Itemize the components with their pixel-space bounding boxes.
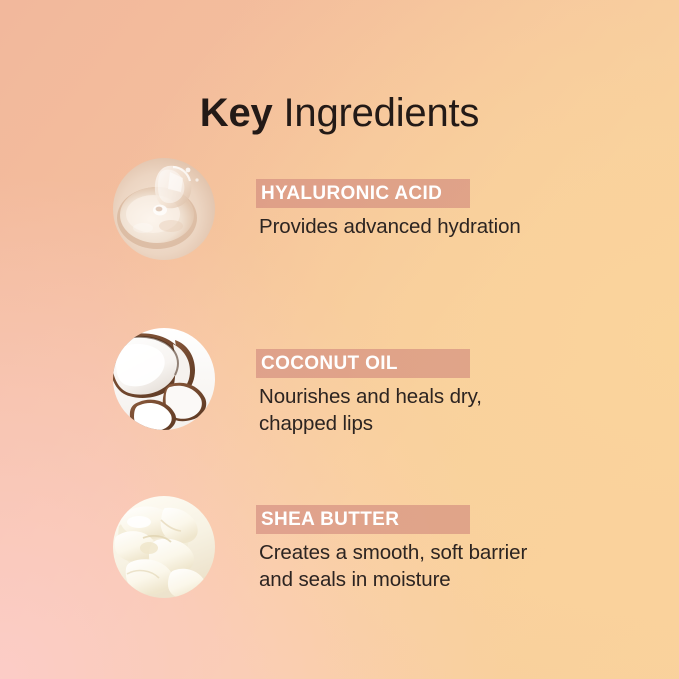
ingredient-list: HYALURONIC ACID Provides advanced hydrat… — [0, 0, 679, 679]
ingredient-description: Creates a smooth, soft barrier and seals… — [256, 539, 656, 593]
hyaluronic-acid-image — [113, 158, 215, 260]
ingredient-description: Nourishes and heals dry, chapped lips — [256, 383, 656, 437]
ingredient-name-badge: COCONUT OIL — [256, 349, 470, 378]
shea-butter-image — [113, 496, 215, 598]
coconut-oil-image — [113, 328, 215, 430]
ingredient-row-shea-butter: SHEA BUTTER Creates a smooth, soft barri… — [0, 496, 679, 616]
shea-butter-text: SHEA BUTTER Creates a smooth, soft barri… — [256, 496, 656, 614]
ingredient-row-coconut-oil: COCONUT OIL Nourishes and heals dry, cha… — [0, 328, 679, 448]
hyaluronic-acid-text: HYALURONIC ACID Provides advanced hydrat… — [256, 158, 656, 261]
ingredient-name-badge: SHEA BUTTER — [256, 505, 470, 534]
ingredient-row-hyaluronic-acid: HYALURONIC ACID Provides advanced hydrat… — [0, 158, 679, 278]
ingredient-name-badge: HYALURONIC ACID — [256, 179, 470, 208]
key-ingredients-poster: Key Ingredients — [0, 0, 679, 679]
coconut-oil-text: COCONUT OIL Nourishes and heals dry, cha… — [256, 328, 656, 458]
ingredient-description: Provides advanced hydration — [256, 213, 656, 240]
